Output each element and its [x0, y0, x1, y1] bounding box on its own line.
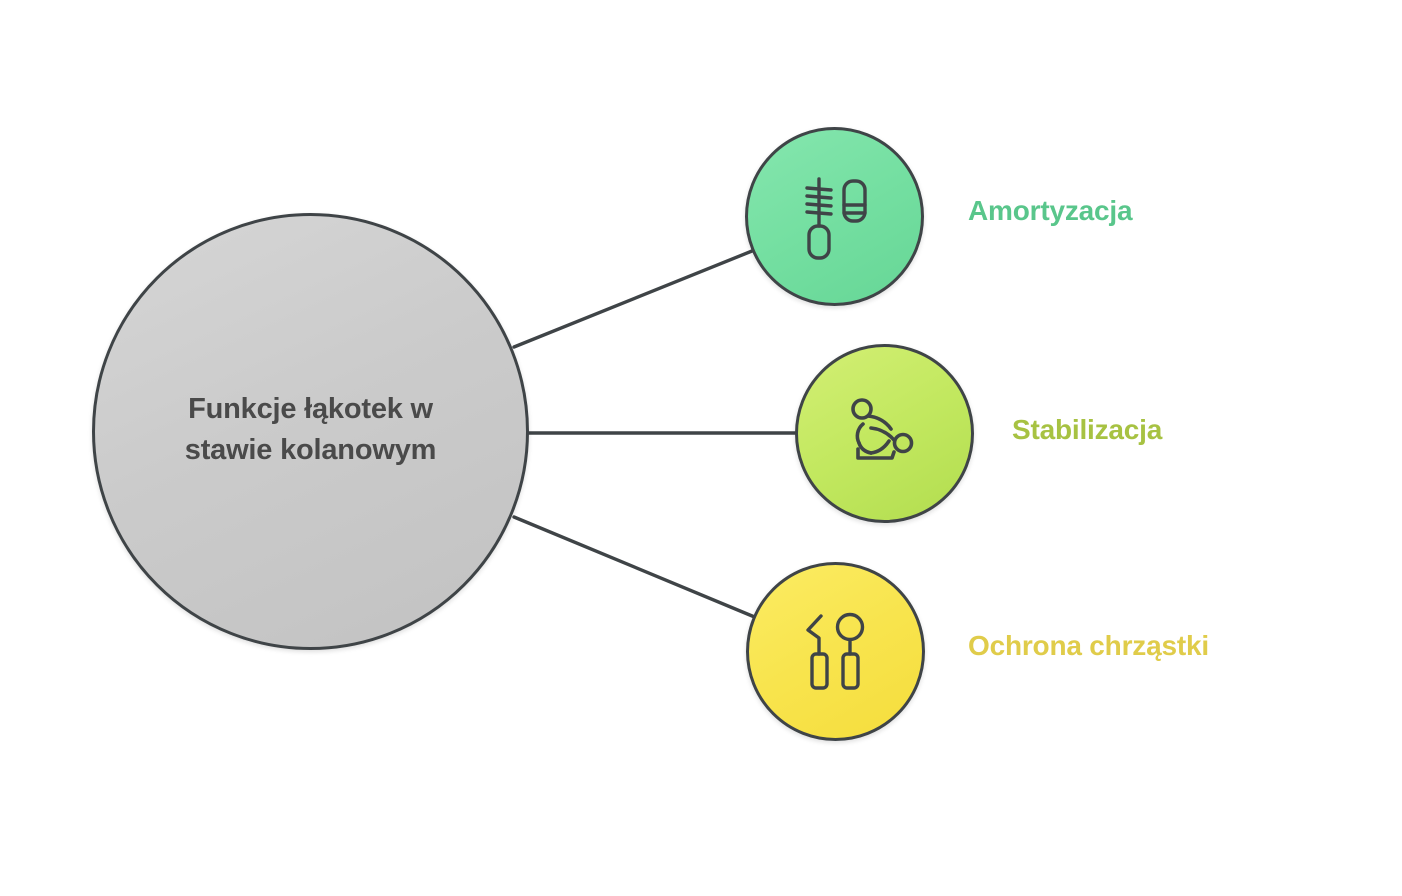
central-node[interactable]: Funkcje łąkotek w stawie kolanowym [92, 213, 529, 650]
edge-central-to-ochrona [514, 517, 757, 618]
dental-tools-icon [788, 604, 884, 700]
diagram-canvas: Funkcje łąkotek w stawie kolanowym Amort… [0, 0, 1402, 896]
branch-label-ochrona-chrzastki: Ochrona chrząstki [968, 630, 1209, 662]
branch-node-ochrona-chrzastki[interactable] [746, 562, 925, 741]
branch-label-stabilizacja: Stabilizacja [1012, 414, 1162, 446]
branch-node-stabilizacja[interactable] [795, 344, 974, 523]
branch-label-amortyzacja: Amortyzacja [968, 195, 1132, 227]
shock-absorber-icon [787, 169, 883, 265]
edge-central-to-amortyzacja [514, 249, 757, 347]
crouching-person-icon [837, 386, 933, 482]
central-node-label: Funkcje łąkotek w stawie kolanowym [146, 389, 476, 473]
branch-node-amortyzacja[interactable] [745, 127, 924, 306]
